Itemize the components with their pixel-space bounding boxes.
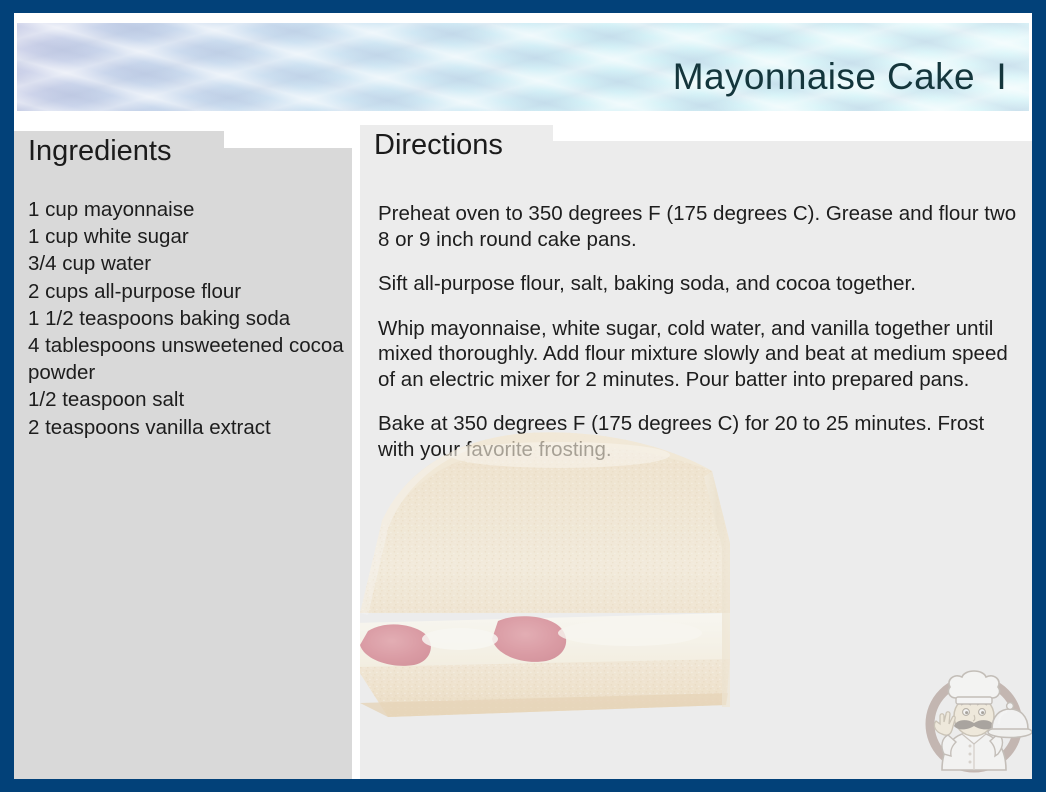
header-banner: Mayonnaise Cake I [17, 23, 1029, 111]
recipe-card-slide: Mayonnaise Cake I Preheat oven to 350 de… [0, 0, 1046, 792]
panel-gutter [352, 148, 360, 779]
directions-heading: Directions [360, 125, 553, 168]
ingredients-heading: Ingredients [14, 131, 224, 174]
ingredient-item: 3/4 cup water [28, 250, 348, 277]
directions-steps: Preheat oven to 350 degrees F (175 degre… [378, 201, 1018, 462]
frame-border-top [0, 0, 1046, 13]
frame-border-left [0, 0, 14, 792]
ingredient-item: 2 cups all-purpose flour [28, 278, 348, 305]
ingredient-item: 1 cup white sugar [28, 223, 348, 250]
direction-step: Sift all-purpose flour, salt, baking sod… [378, 271, 1018, 297]
ingredient-item: 1 1/2 teaspoons baking soda [28, 305, 348, 332]
ingredients-items: 1 cup mayonnaise 1 cup white sugar 3/4 c… [28, 196, 348, 441]
chef-logo [912, 658, 1036, 782]
direction-step: Whip mayonnaise, white sugar, cold water… [378, 316, 1018, 393]
ingredient-item: 1/2 teaspoon salt [28, 386, 348, 413]
direction-step: Preheat oven to 350 degrees F (175 degre… [378, 201, 1018, 252]
chef-mascot-icon [912, 658, 1036, 782]
ingredient-item: 2 teaspoons vanilla extract [28, 414, 348, 441]
page-surface: Mayonnaise Cake I Preheat oven to 350 de… [14, 13, 1032, 779]
frame-border-bottom [0, 779, 1046, 792]
page-title: Mayonnaise Cake I [673, 58, 1007, 97]
ingredient-item: 4 tablespoons unsweetened cocoa powder [28, 332, 348, 386]
frame-border-right [1032, 0, 1046, 792]
direction-step: Bake at 350 degrees F (175 degrees C) fo… [378, 411, 1018, 462]
ingredient-item: 1 cup mayonnaise [28, 196, 348, 223]
